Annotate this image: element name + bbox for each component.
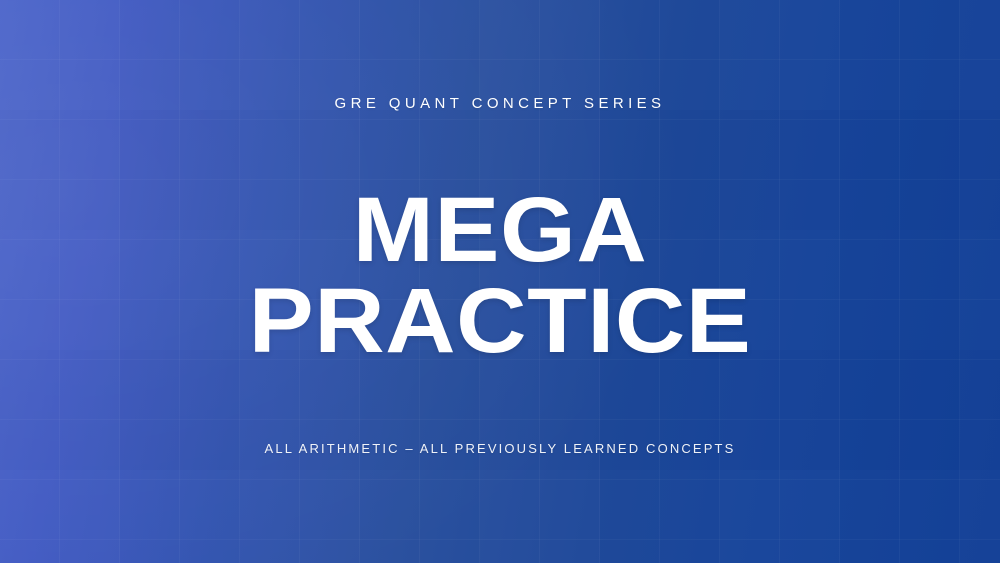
slide-subtitle: ALL ARITHMETIC – ALL PREVIOUSLY LEARNED …	[0, 442, 1000, 455]
title-line-one: MEGA	[0, 186, 1000, 275]
title-line-two: PRACTICE	[0, 277, 1000, 366]
series-eyebrow: GRE QUANT CONCEPT SERIES	[0, 96, 1000, 111]
slide-content: GRE QUANT CONCEPT SERIES MEGA PRACTICE A…	[0, 0, 1000, 563]
page-title: MEGA PRACTICE	[0, 186, 1000, 366]
title-slide: GRE QUANT CONCEPT SERIES MEGA PRACTICE A…	[0, 0, 1000, 563]
